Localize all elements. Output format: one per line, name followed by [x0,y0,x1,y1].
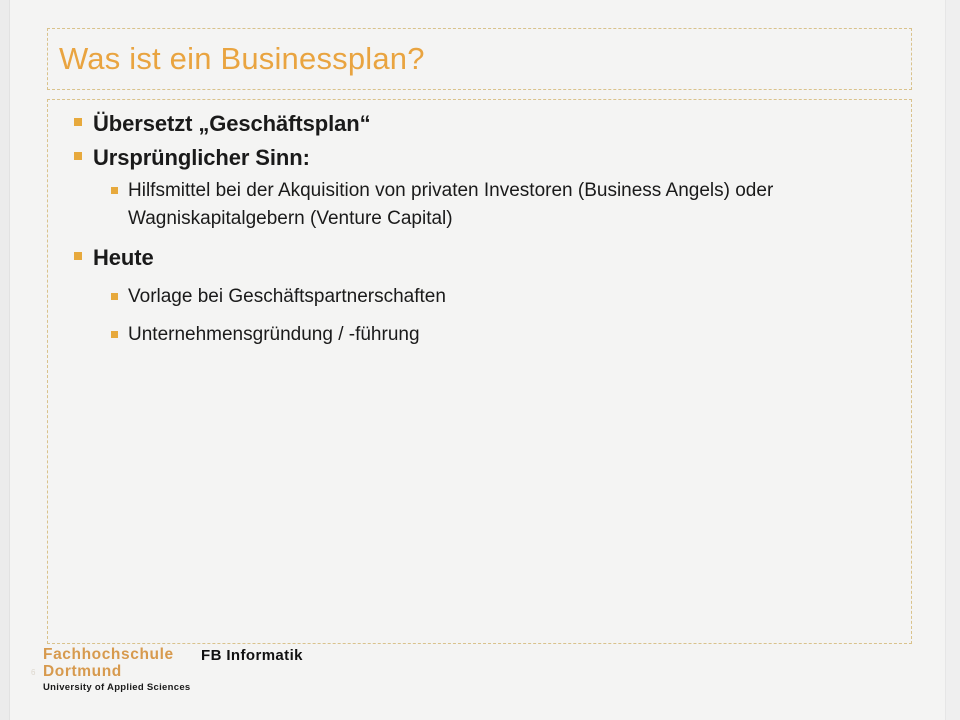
list-item[interactable]: Hilfsmittel bei der Akquisition von priv… [62,177,897,233]
list-item[interactable]: Übersetzt „Geschäftsplan“ [62,109,897,139]
square-bullet-icon [111,293,118,300]
list-item-label: Übersetzt „Geschäftsplan“ [93,109,370,139]
page-edge-right [945,0,960,720]
department-label: FB Informatik [201,647,303,664]
title-placeholder[interactable]: Was ist ein Businessplan? [47,28,912,90]
list-item-label: Hilfsmittel bei der Akquisition von priv… [128,177,897,233]
list-item-label: Heute [93,243,154,273]
list-item-label: Unternehmensgründung / -führung [128,321,420,349]
list-item[interactable]: Heute [62,243,897,273]
content-placeholder[interactable]: Übersetzt „Geschäftsplan“ Ursprünglicher… [47,99,912,644]
list-item[interactable]: Vorlage bei Geschäftspartnerschaften [62,283,897,311]
square-bullet-icon [111,331,118,338]
list-item-label: Vorlage bei Geschäftspartnerschaften [128,283,446,311]
slide-footer: 6 Fachhochschule Dortmund University of … [0,643,960,720]
square-bullet-icon [74,118,82,126]
bullet-list: Übersetzt „Geschäftsplan“ Ursprünglicher… [62,109,897,349]
logo-line-two: Dortmund [43,663,213,680]
list-item[interactable]: Ursprünglicher Sinn: [62,143,897,173]
slide-canvas: Was ist ein Businessplan? Übersetzt „Ges… [0,0,960,720]
list-item[interactable]: Unternehmensgründung / -führung [62,321,897,349]
page-number: 6 [31,668,35,677]
square-bullet-icon [74,152,82,160]
square-bullet-icon [74,252,82,260]
slide-title: Was ist ein Businessplan? [48,41,425,77]
list-item-label: Ursprünglicher Sinn: [93,143,310,173]
logo-line-one: Fachhochschule [43,646,213,663]
logo-tagline: University of Applied Sciences [43,682,213,693]
square-bullet-icon [111,187,118,194]
page-edge-left [0,0,10,720]
university-logo: Fachhochschule Dortmund University of Ap… [43,646,213,693]
